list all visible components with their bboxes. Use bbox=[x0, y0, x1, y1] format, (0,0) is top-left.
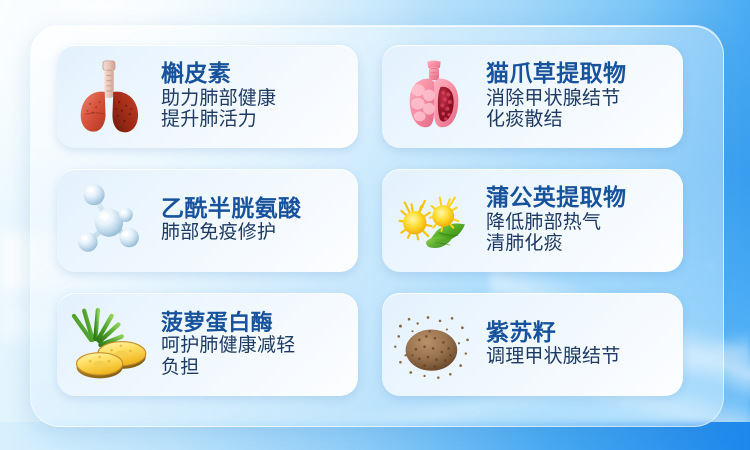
card-title: 紫苏籽 bbox=[486, 321, 675, 345]
card-title: 猫爪草提取物 bbox=[486, 62, 675, 86]
card-text-block: 槲皮素 助力肺部健康 提升肺活力 bbox=[161, 62, 358, 131]
seeds-icon bbox=[382, 293, 486, 396]
card-title: 槲皮素 bbox=[161, 62, 350, 86]
card-subtitle: 呵护肺健康减轻 负担 bbox=[161, 335, 350, 378]
card-subtitle-line: 消除甲状腺结节 bbox=[486, 88, 675, 110]
card-subtitle-line: 提升肺活力 bbox=[161, 109, 350, 131]
card-subtitle-line: 清肺化痰 bbox=[486, 233, 675, 255]
card-subtitle-line: 肺部免疫修护 bbox=[161, 222, 350, 244]
infographic-stage: ✦ ✦ ✦ bbox=[0, 0, 750, 450]
card-subtitle: 调理甲状腺结节 bbox=[486, 346, 675, 368]
card-subtitle-line: 呵护肺健康减轻 bbox=[161, 335, 350, 357]
ingredient-card-perilla-seed[interactable]: 紫苏籽 调理甲状腺结节 bbox=[382, 293, 683, 396]
card-title: 乙酰半胱氨酸 bbox=[161, 197, 350, 221]
card-subtitle-line: 化痰散结 bbox=[486, 109, 675, 131]
lungs-icon bbox=[57, 45, 161, 148]
ingredient-card-nac[interactable]: 乙酰半胱氨酸 肺部免疫修护 bbox=[57, 169, 358, 272]
ingredient-card-cats-claw[interactable]: 猫爪草提取物 消除甲状腺结节 化痰散结 bbox=[382, 45, 683, 148]
card-text-block: 蒲公英提取物 降低肺部热气 清肺化痰 bbox=[486, 186, 683, 255]
card-subtitle-line: 助力肺部健康 bbox=[161, 88, 350, 110]
card-title: 蒲公英提取物 bbox=[486, 186, 675, 210]
thyroid-icon bbox=[382, 45, 486, 148]
card-text-block: 紫苏籽 调理甲状腺结节 bbox=[486, 321, 683, 368]
ingredient-card-grid: 槲皮素 助力肺部健康 提升肺活力 bbox=[57, 45, 697, 397]
card-subtitle: 消除甲状腺结节 化痰散结 bbox=[486, 88, 675, 131]
card-subtitle: 肺部免疫修护 bbox=[161, 222, 350, 244]
card-subtitle-line: 调理甲状腺结节 bbox=[486, 346, 675, 368]
pineapple-icon bbox=[57, 293, 161, 396]
molecule-icon bbox=[57, 169, 161, 272]
card-title: 菠萝蛋白酶 bbox=[161, 311, 350, 334]
ingredient-card-bromelain[interactable]: 菠萝蛋白酶 呵护肺健康减轻 负担 bbox=[57, 293, 358, 396]
card-text-block: 乙酰半胱氨酸 肺部免疫修护 bbox=[161, 197, 358, 244]
ingredient-card-quercetin[interactable]: 槲皮素 助力肺部健康 提升肺活力 bbox=[57, 45, 358, 148]
card-text-block: 菠萝蛋白酶 呵护肺健康减轻 负担 bbox=[161, 311, 358, 379]
card-subtitle-line: 负担 bbox=[161, 357, 350, 379]
ingredient-card-dandelion[interactable]: 蒲公英提取物 降低肺部热气 清肺化痰 bbox=[382, 169, 683, 272]
card-subtitle-line: 降低肺部热气 bbox=[486, 212, 675, 234]
card-subtitle: 助力肺部健康 提升肺活力 bbox=[161, 88, 350, 131]
card-text-block: 猫爪草提取物 消除甲状腺结节 化痰散结 bbox=[486, 62, 683, 131]
card-subtitle: 降低肺部热气 清肺化痰 bbox=[486, 212, 675, 255]
dandelion-icon bbox=[382, 169, 486, 272]
